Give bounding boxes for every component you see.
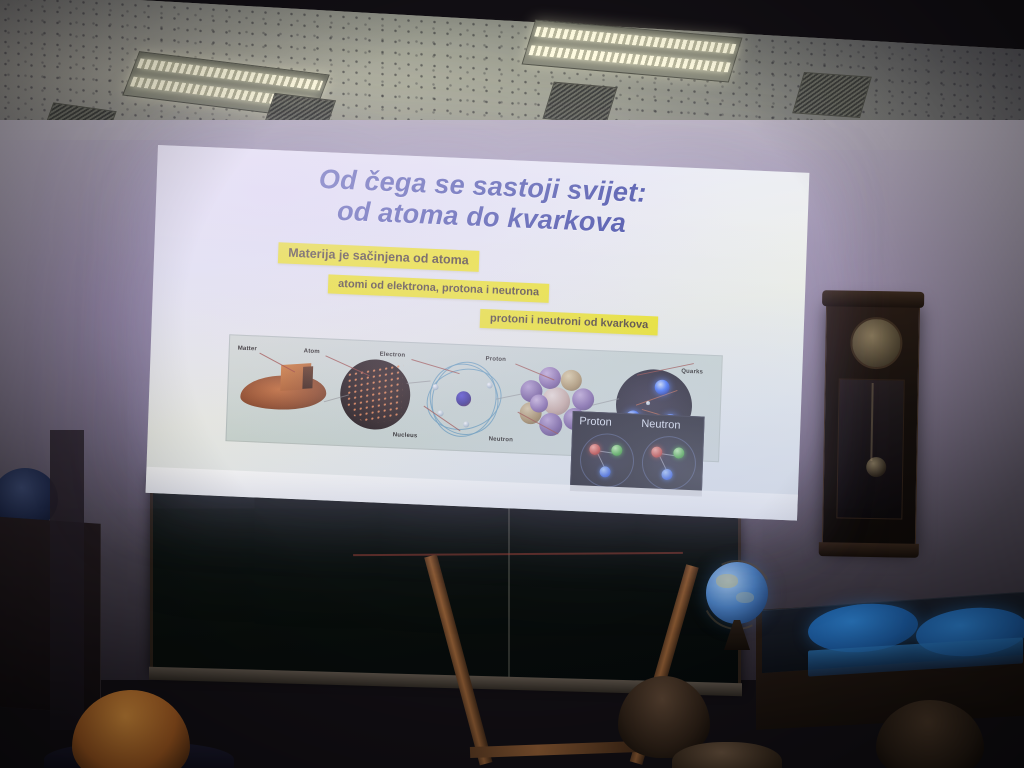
hvac-vent-4 bbox=[792, 72, 872, 118]
inset-label-neutron: Neutron bbox=[641, 418, 681, 432]
inset-label-proton: Proton bbox=[579, 415, 612, 428]
chalkboard-seam bbox=[508, 483, 510, 678]
pendulum-wall-clock bbox=[822, 297, 920, 549]
lecture-room-photo: Od čega se sastoji svijet: od atoma do k… bbox=[0, 0, 1024, 768]
quark-spark bbox=[646, 401, 650, 405]
slide-bullet-2: atomi od elektrona, protona i neutrona bbox=[328, 274, 550, 302]
clock-base bbox=[819, 542, 919, 558]
neutron-quark-circle bbox=[641, 435, 697, 491]
audience-head-center-front bbox=[672, 742, 782, 768]
slide-title: Od čega se sastoji svijet: od atoma do k… bbox=[155, 157, 809, 246]
proton-quark-green bbox=[611, 445, 622, 456]
proton-quark-red bbox=[589, 444, 600, 455]
diagram-label-matter: Matter bbox=[238, 346, 257, 353]
matter-block-shadow bbox=[302, 366, 313, 389]
diagram-label-electron: Electron bbox=[380, 352, 406, 359]
hvac-vent-3 bbox=[542, 82, 617, 125]
easel-crossbar bbox=[470, 741, 640, 758]
proton-quark-circle bbox=[579, 432, 635, 488]
proton-neutron-inset: Proton Neutron bbox=[570, 411, 705, 497]
chalkboard-wire bbox=[353, 552, 683, 556]
clock-hood bbox=[822, 290, 924, 308]
neutron-quark-red bbox=[651, 446, 662, 457]
neutron-quark-blue bbox=[661, 469, 672, 480]
slide-bullet-1: Materija je sačinjena od atoma bbox=[278, 242, 479, 272]
atom-orbitals-illustration bbox=[423, 358, 504, 439]
proton-quark-blue bbox=[599, 466, 610, 477]
slide: Od čega se sastoji svijet: od atoma do k… bbox=[146, 145, 810, 521]
projection-screen[interactable]: Od čega se sastoji svijet: od atoma do k… bbox=[146, 145, 810, 521]
diagram-label-quarks: Quarks bbox=[681, 369, 703, 376]
wall-pillar-left bbox=[50, 430, 84, 730]
diagram-label-nucleus: Nucleus bbox=[393, 432, 418, 439]
neutron-quark-green bbox=[673, 447, 684, 458]
leader-line-matter bbox=[259, 353, 295, 373]
diagram-label-neutron: Neutron bbox=[489, 436, 514, 443]
clock-face bbox=[850, 317, 903, 370]
diagram-label-proton: Proton bbox=[485, 356, 506, 363]
diagram-label-atom: Atom bbox=[304, 348, 320, 355]
slide-bullet-3: protoni i neutroni od kvarkova bbox=[480, 309, 659, 336]
